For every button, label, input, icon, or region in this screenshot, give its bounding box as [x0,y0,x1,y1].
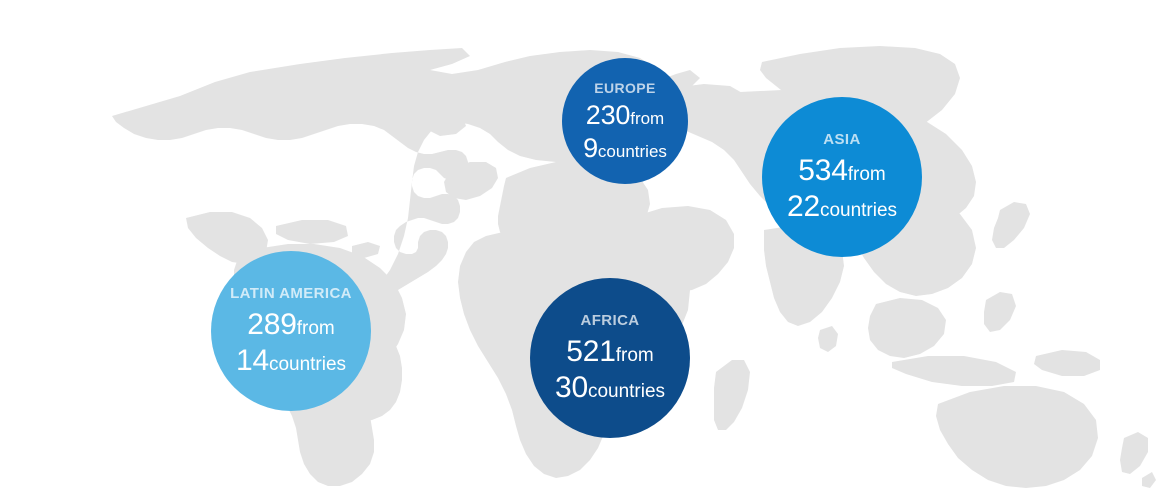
caribbean-islands [276,220,348,244]
bubble-europe-countries-line: 9countries [583,135,667,162]
sri-lanka-land [818,326,838,352]
bubble-latin-america-value-line: 289from [247,310,334,340]
bubble-asia-value: 534 [798,154,847,187]
south-atlantic-islands [1142,472,1156,488]
bubble-latin-america-from-label: from [297,318,335,339]
new-zealand-islands [1120,432,1148,474]
bubble-africa-value: 521 [566,335,615,368]
bubble-africa-countries-label: countries [588,381,665,402]
bubble-africa-countries-line: 30countries [555,373,665,403]
bubble-latin-america-countries-line: 14countries [236,346,346,376]
bubble-latin-america-countries-label: countries [269,354,346,375]
indonesia-islands [892,356,1016,386]
bubble-latin-america[interactable]: LATIN AMERICA 289from 14countries [211,251,371,411]
bubble-asia-countries-label: countries [820,200,897,221]
bubble-asia[interactable]: ASIA 534from 22countries [762,97,922,257]
bubble-africa-countries-count: 30 [555,371,588,404]
bubble-europe-value-line: 230from [586,102,664,129]
papua-new-guinea-land [1034,350,1100,376]
bubble-europe-countries-label: countries [598,142,667,161]
infographic-canvas: EUROPE 230from 9countries ASIA 534from 2… [0,0,1158,492]
bubble-latin-america-countries-count: 14 [236,344,269,377]
bubble-asia-from-label: from [848,164,886,185]
bubble-asia-countries-line: 22countries [787,192,897,222]
bubble-europe[interactable]: EUROPE 230from 9countries [562,58,688,184]
japan-islands [992,202,1030,248]
bubble-europe-region: EUROPE [594,81,656,95]
madagascar-land [714,360,750,430]
southeast-asia-land [868,298,946,358]
bubble-asia-region: ASIA [823,132,860,147]
bubble-africa-from-label: from [616,345,654,366]
bubble-asia-countries-count: 22 [787,190,820,223]
central-america-land [186,212,268,264]
bubble-asia-value-line: 534from [798,156,885,186]
philippines-islands [984,292,1016,332]
bubble-africa-value-line: 521from [566,337,653,367]
bubble-europe-from-label: from [630,109,664,128]
bubble-europe-value: 230 [586,100,630,130]
bubble-europe-countries-count: 9 [583,133,598,163]
australia-land [936,386,1098,488]
bubble-latin-america-value: 289 [247,308,296,341]
bubble-africa[interactable]: AFRICA 521from 30countries [530,278,690,438]
bubble-africa-region: AFRICA [580,313,639,328]
bubble-latin-america-region: LATIN AMERICA [230,286,352,301]
